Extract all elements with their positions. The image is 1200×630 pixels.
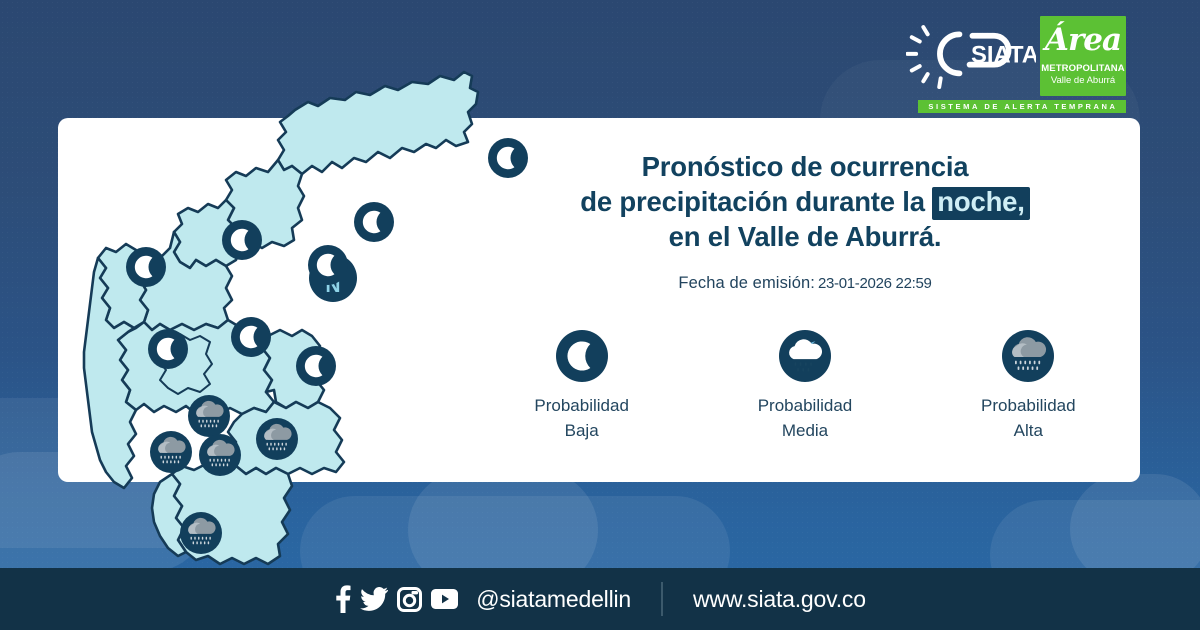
website-url[interactable]: www.siata.gov.co [693, 586, 866, 613]
social-icons [334, 585, 458, 613]
title-line-1: Pronóstico de ocurrencia [470, 150, 1140, 185]
infographic-root: N Pronóstico de ocurrencia [0, 0, 1200, 630]
map-marker-rain[interactable] [180, 512, 222, 554]
legend-label-line2: Media [710, 419, 900, 444]
map-marker-moon[interactable] [222, 220, 262, 260]
legend-item-alta: Probabilidad Alta [933, 330, 1123, 443]
siata-logo-text: SIATA [971, 42, 1036, 69]
footer-divider [661, 582, 663, 616]
map-marker-moon[interactable] [148, 329, 188, 369]
instagram-icon[interactable] [397, 587, 422, 612]
footer: @siatamedellin www.siata.gov.co [0, 568, 1200, 630]
title-line-2: de precipitación durante la noche, [470, 185, 1140, 220]
twitter-icon[interactable] [360, 587, 388, 611]
facebook-icon[interactable] [334, 585, 351, 613]
tagline-bar: SISTEMA DE ALERTA TEMPRANA [918, 100, 1126, 113]
logo-group: SIATA Área METROPOLITANA Valle de Aburrá… [906, 16, 1126, 112]
youtube-icon[interactable] [431, 589, 458, 609]
forecast-text-block: Pronóstico de ocurrencia de precipitació… [470, 150, 1140, 293]
legend-label-baja: Probabilidad Baja [487, 394, 677, 443]
map-marker-rain[interactable] [150, 431, 192, 473]
emission-date-value: 23-01-2026 22:59 [818, 275, 932, 292]
area-badge-script: Área [1045, 25, 1121, 56]
title-line-2-text: de precipitación durante la [580, 186, 925, 217]
moon-icon [556, 330, 608, 382]
legend-label-alta: Probabilidad Alta [933, 394, 1123, 443]
map-marker-rain[interactable] [188, 395, 230, 437]
legend-label-line1: Probabilidad [710, 394, 900, 419]
cloud-rain-heavy-icon [1002, 330, 1054, 382]
legend-item-media: Probabilidad Media [710, 330, 900, 443]
map-marker-rain[interactable] [256, 418, 298, 460]
area-badge-line2: Valle de Aburrá [1051, 75, 1115, 86]
legend-label-media: Probabilidad Media [710, 394, 900, 443]
area-badge-line1: METROPOLITANA [1041, 63, 1124, 74]
tagline-text: SISTEMA DE ALERTA TEMPRANA [926, 102, 1117, 111]
map-marker-moon[interactable] [354, 202, 394, 242]
emission-date: Fecha de emisión:23-01-2026 22:59 [470, 274, 1140, 293]
siata-logo: SIATA [906, 18, 1036, 94]
map-marker-moon[interactable] [296, 346, 336, 386]
legend-label-line2: Baja [487, 419, 677, 444]
map-marker-moon[interactable] [308, 245, 348, 285]
legend-label-line2: Alta [933, 419, 1123, 444]
page-title: Pronóstico de ocurrencia de precipitació… [470, 150, 1140, 255]
emission-date-label: Fecha de emisión: [678, 274, 815, 292]
map-municipalities [84, 72, 478, 564]
title-highlight-noche: noche, [932, 187, 1029, 220]
map-marker-moon[interactable] [231, 317, 271, 357]
map-valle-de-aburra[interactable]: N [40, 40, 510, 570]
map-marker-moon[interactable] [126, 247, 166, 287]
legend: Probabilidad Baja Proba [470, 330, 1140, 443]
area-metropolitana-badge: Área METROPOLITANA Valle de Aburrá [1040, 16, 1126, 96]
map-marker-rain[interactable] [199, 434, 241, 476]
title-line-3: en el Valle de Aburrá. [470, 220, 1140, 255]
legend-label-line1: Probabilidad [487, 394, 677, 419]
social-handle[interactable]: @siatamedellin [476, 586, 631, 613]
legend-item-baja: Probabilidad Baja [487, 330, 677, 443]
legend-label-line1: Probabilidad [933, 394, 1123, 419]
cloud-rain-moon-icon [779, 330, 831, 382]
